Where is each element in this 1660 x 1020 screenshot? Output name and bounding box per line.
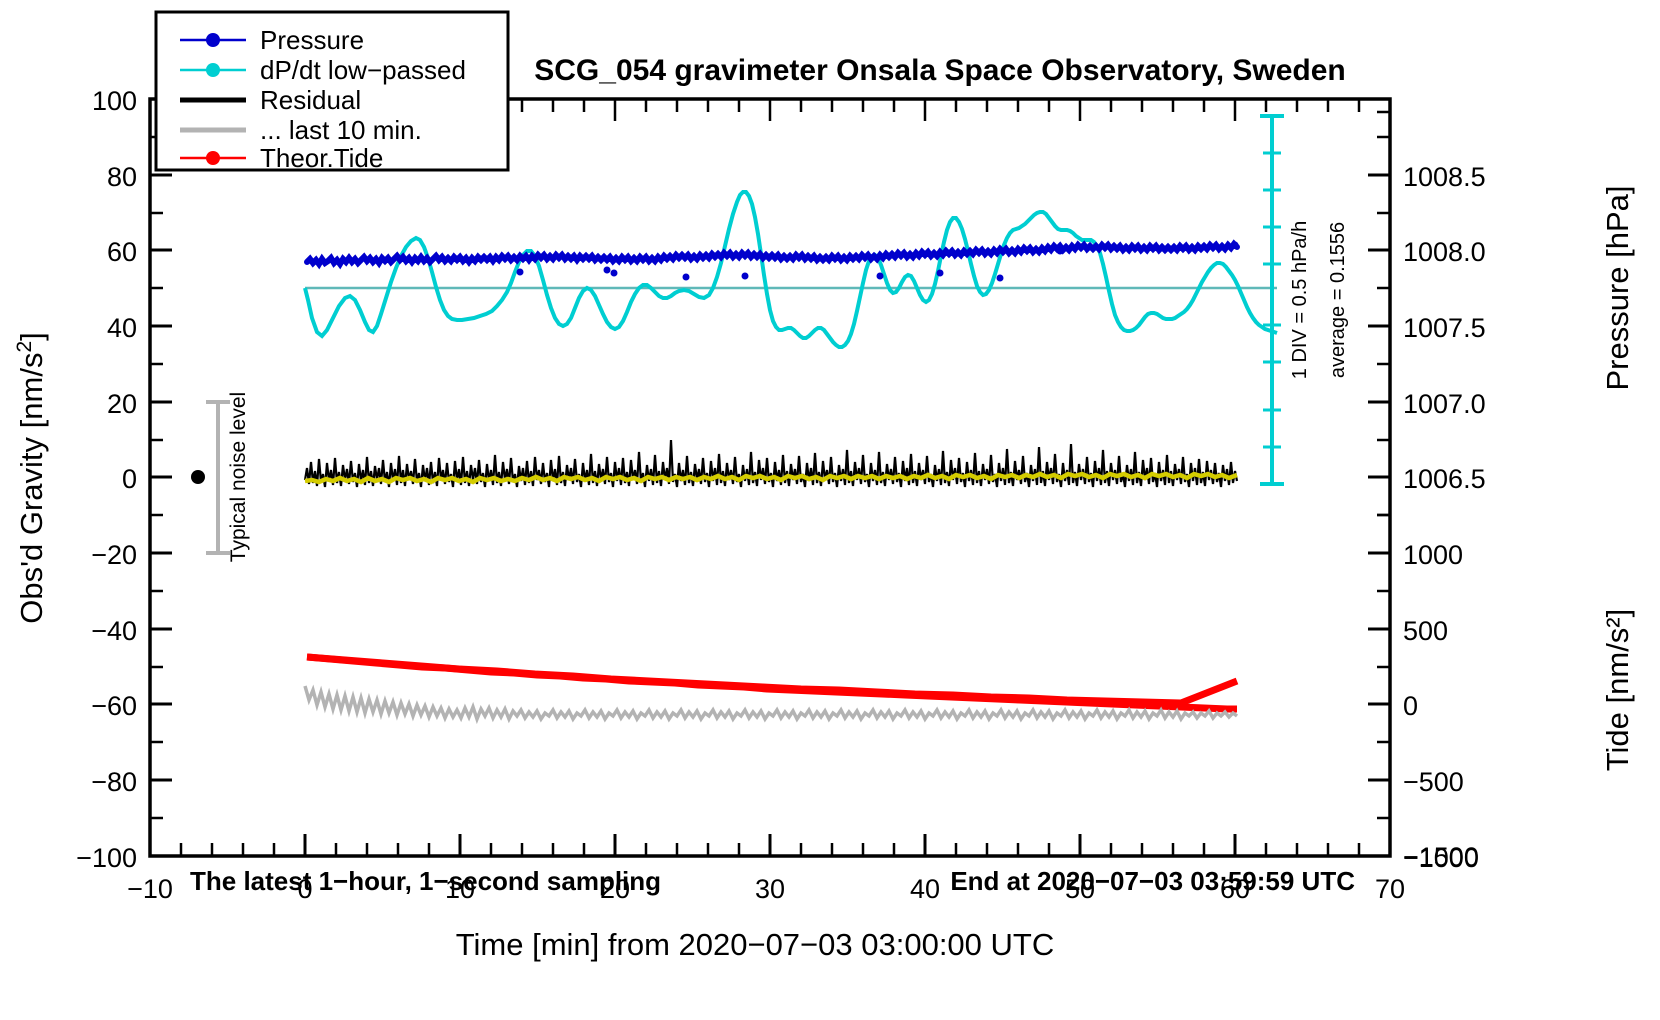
ytick-80: 80	[107, 162, 137, 192]
legend-label-last10: ... last 10 min.	[260, 115, 422, 145]
ytick-40: 40	[107, 313, 137, 343]
xtick-40: 40	[910, 874, 940, 904]
legend-label-dpdt: dP/dt low−passed	[260, 55, 466, 85]
page-title: SCG_054 gravimeter Onsala Space Observat…	[534, 54, 1346, 87]
ptick-1006-5: 1006.5	[1403, 464, 1486, 494]
legend-label-residual: Residual	[260, 85, 361, 115]
ptick-1008-5: 1008.5	[1403, 162, 1486, 192]
right-axis-pressure-title: Pressure [hPa]	[1600, 185, 1635, 390]
ytick-60: 60	[107, 237, 137, 267]
ytick-100: 100	[92, 86, 137, 116]
theortide-marker-icon	[206, 151, 220, 165]
gravimeter-chart: 100 80 60 40 20 0 −20 −40 −60 −80 −100 O…	[0, 0, 1660, 1020]
ttick-0: 0	[1403, 691, 1418, 721]
footer-left-text: The latest 1−hour, 1−second sampling	[190, 866, 661, 896]
ytick-neg80: −80	[91, 767, 137, 797]
footer-right-text: End at 2020−07−03 03:59:59 UTC	[950, 866, 1355, 896]
noise-level-label: Typical noise level	[227, 392, 250, 562]
div-scale-label: 1 DIV = 0.5 hPa/h	[1289, 221, 1311, 379]
ttick-neg500: −500	[1403, 767, 1464, 797]
legend: Pressure dP/dt low−passed Residual ... l…	[156, 12, 508, 173]
right-axis-tide-title: Tide [nm/s²]	[1600, 609, 1635, 772]
xtick-neg10: −10	[127, 874, 173, 904]
ptick-1007-5: 1007.5	[1403, 313, 1486, 343]
left-axis-title-text: Obs'd Gravity [nm/s2]	[13, 332, 50, 624]
ptick-1008-0: 1008.0	[1403, 237, 1486, 267]
ytick-neg20: −20	[91, 540, 137, 570]
ytick-neg100: −100	[76, 843, 137, 873]
ttick-1000: 1000	[1403, 540, 1463, 570]
ttick-neg1500-label: −1500	[1403, 842, 1479, 872]
ytick-neg40: −40	[91, 616, 137, 646]
ytick-0: 0	[122, 464, 137, 494]
xtick-70: 70	[1375, 874, 1405, 904]
dpdt-marker-icon	[206, 63, 220, 77]
ptick-1007-0: 1007.0	[1403, 389, 1486, 419]
xtick-30: 30	[755, 874, 785, 904]
left-axis-title: Obs'd Gravity [nm/s2]	[13, 332, 50, 624]
average-label: average = 0.1556	[1327, 222, 1349, 378]
pressure-marker-icon	[206, 33, 220, 47]
x-axis-title: Time [min] from 2020−07−03 03:00:00 UTC	[456, 927, 1055, 962]
legend-label-theortide: Theor.Tide	[260, 143, 383, 173]
ytick-neg60: −60	[91, 691, 137, 721]
ytick-20: 20	[107, 389, 137, 419]
ttick-500: 500	[1403, 616, 1448, 646]
legend-label-pressure: Pressure	[260, 25, 364, 55]
chart-page: 100 80 60 40 20 0 −20 −40 −60 −80 −100 O…	[0, 0, 1660, 1020]
